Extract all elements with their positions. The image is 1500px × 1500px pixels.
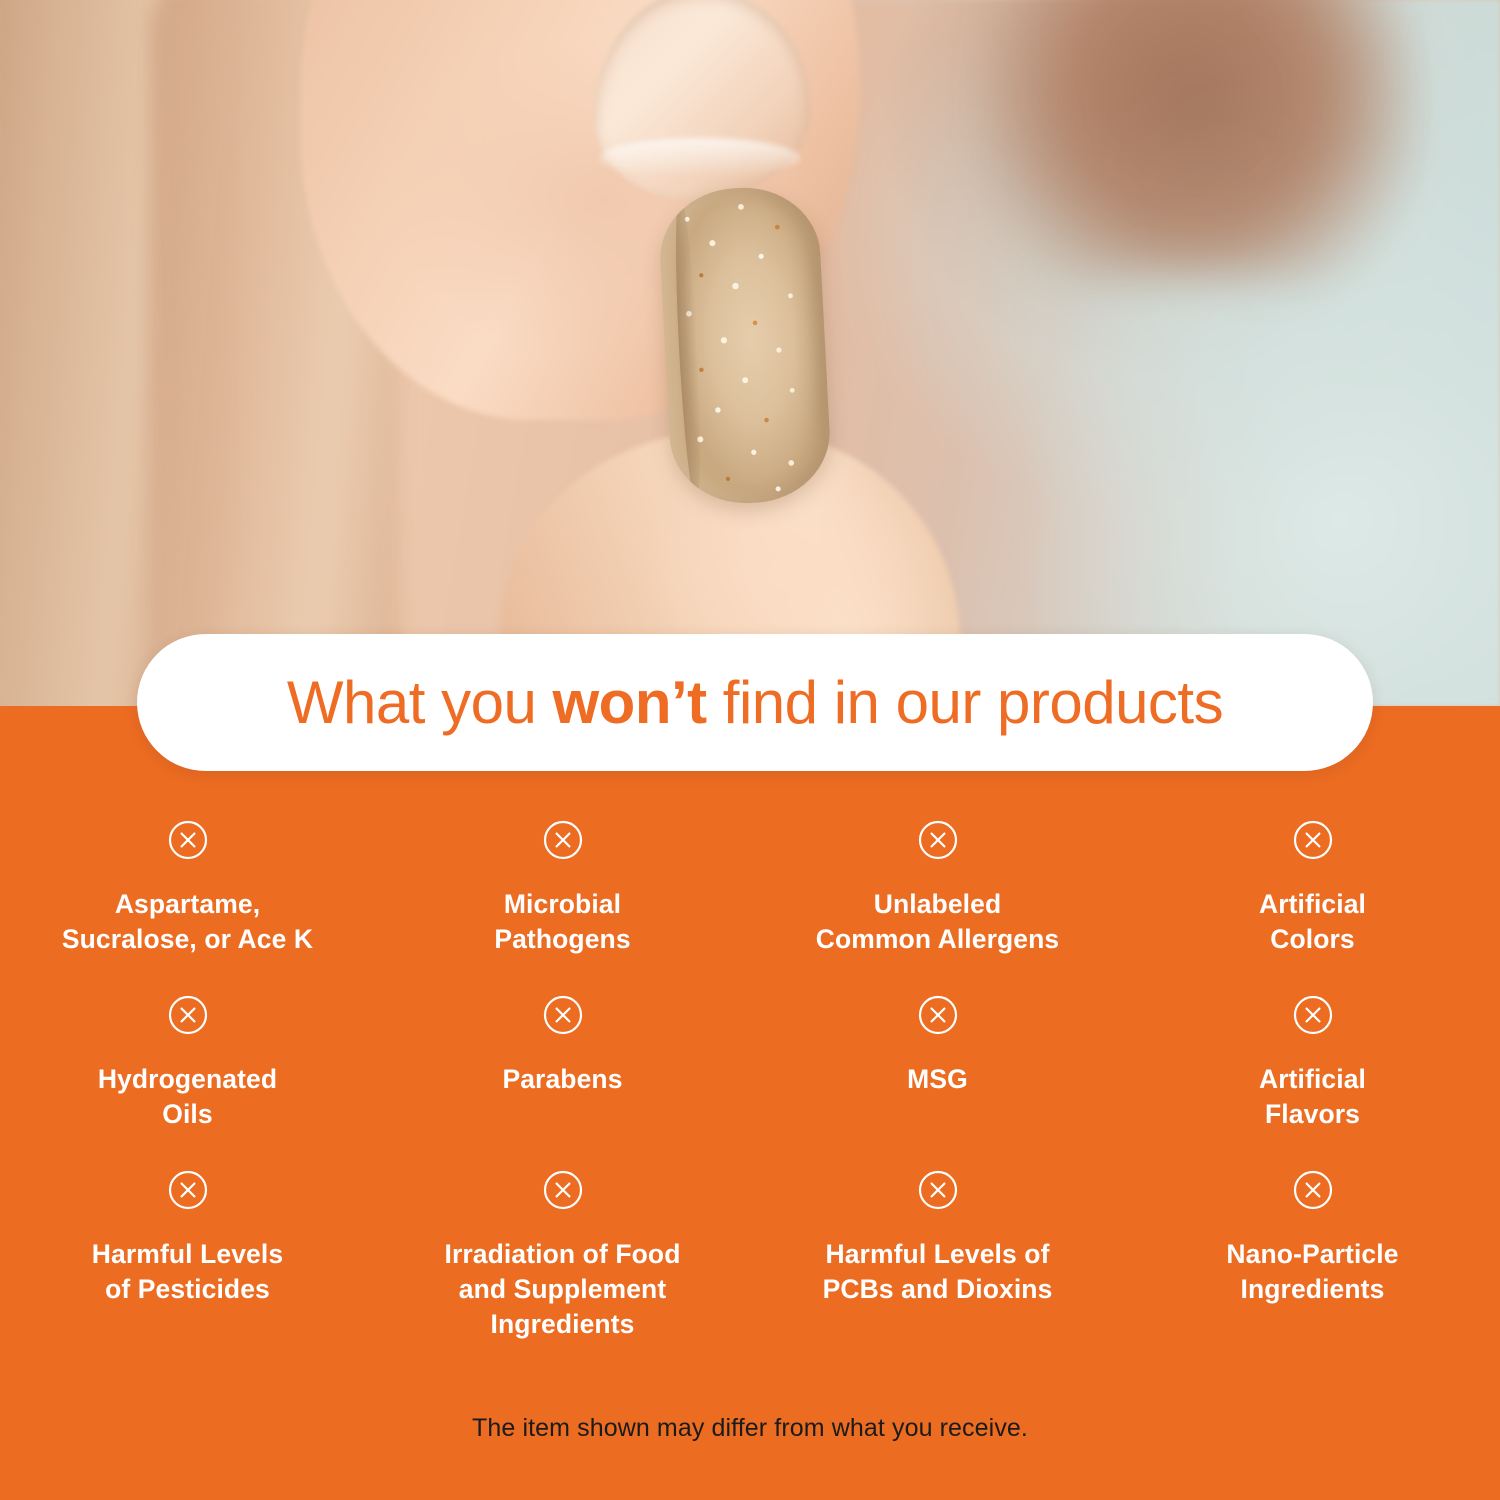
- circle-x-icon: [543, 995, 583, 1035]
- claim-item: MSG: [750, 995, 1125, 1170]
- circle-x-icon: [918, 995, 958, 1035]
- claim-label: Nano-Particle Ingredients: [1226, 1237, 1398, 1307]
- headline-card: What you won’t find in our products: [137, 634, 1373, 771]
- claims-row: Aspartame, Sucralose, or Ace K Microbial…: [0, 820, 1500, 995]
- claim-label-line: Ingredients: [1226, 1272, 1398, 1307]
- claim-label-line: Harmful Levels of: [823, 1237, 1053, 1272]
- claim-label: Artificial Flavors: [1259, 1062, 1366, 1132]
- claims-row: Hydrogenated Oils Parabens: [0, 995, 1500, 1170]
- photo-thumbnail-edge: [600, 138, 800, 178]
- claim-label-line: Nano-Particle: [1226, 1237, 1398, 1272]
- tablet-icon: [657, 184, 833, 507]
- headline-part-2: find in our products: [707, 669, 1223, 736]
- claim-item: Microbial Pathogens: [375, 820, 750, 995]
- claim-label: Artificial Colors: [1259, 887, 1366, 957]
- claims-grid: Aspartame, Sucralose, or Ace K Microbial…: [0, 820, 1500, 1360]
- claim-label-line: and Supplement: [445, 1272, 681, 1307]
- product-photo: [0, 0, 1500, 706]
- photo-blurred-backdrop: [980, 0, 1410, 280]
- claim-label-line: Harmful Levels: [92, 1237, 283, 1272]
- claim-item: Hydrogenated Oils: [0, 995, 375, 1170]
- circle-x-icon: [918, 1170, 958, 1210]
- circle-x-icon: [1293, 995, 1333, 1035]
- claim-item: Artificial Flavors: [1125, 995, 1500, 1170]
- claim-label-line: Colors: [1259, 922, 1366, 957]
- claim-label: MSG: [907, 1062, 968, 1097]
- claim-label-line: Pathogens: [494, 922, 630, 957]
- claim-item: Unlabeled Common Allergens: [750, 820, 1125, 995]
- claim-item: Aspartame, Sucralose, or Ace K: [0, 820, 375, 995]
- claim-item: Harmful Levels of Pesticides: [0, 1170, 375, 1360]
- circle-x-icon: [168, 1170, 208, 1210]
- claim-label-line: Parabens: [502, 1062, 622, 1097]
- disclaimer-text: The item shown may differ from what you …: [0, 1414, 1500, 1443]
- claim-label: Microbial Pathogens: [494, 887, 630, 957]
- claim-label-line: Microbial: [494, 887, 630, 922]
- claim-label-line: Artificial: [1259, 1062, 1366, 1097]
- claim-label: Irradiation of Food and Supplement Ingre…: [445, 1237, 681, 1343]
- claim-item: Nano-Particle Ingredients: [1125, 1170, 1500, 1360]
- claim-label-line: MSG: [907, 1062, 968, 1097]
- page-title: What you won’t find in our products: [287, 673, 1223, 733]
- claim-label: Hydrogenated Oils: [98, 1062, 277, 1132]
- circle-x-icon: [918, 820, 958, 860]
- claim-item: Artificial Colors: [1125, 820, 1500, 995]
- claim-label-line: Unlabeled: [816, 887, 1060, 922]
- product-claims-poster: What you won’t find in our products Aspa…: [0, 0, 1500, 1500]
- claim-label-line: PCBs and Dioxins: [823, 1272, 1053, 1307]
- claim-label-line: Sucralose, or Ace K: [62, 922, 313, 957]
- claim-label: Unlabeled Common Allergens: [816, 887, 1060, 957]
- circle-x-icon: [168, 820, 208, 860]
- circle-x-icon: [1293, 1170, 1333, 1210]
- claim-label: Parabens: [502, 1062, 622, 1097]
- claim-label-line: of Pesticides: [92, 1272, 283, 1307]
- claim-label-line: Oils: [98, 1097, 277, 1132]
- claim-label-line: Aspartame,: [62, 887, 313, 922]
- claims-row: Harmful Levels of Pesticides Irradiation…: [0, 1170, 1500, 1360]
- claim-label-line: Artificial: [1259, 887, 1366, 922]
- claim-label: Harmful Levels of PCBs and Dioxins: [823, 1237, 1053, 1307]
- circle-x-icon: [543, 1170, 583, 1210]
- headline-emphasis: won’t: [553, 669, 707, 736]
- claim-item: Harmful Levels of PCBs and Dioxins: [750, 1170, 1125, 1360]
- claim-label-line: Common Allergens: [816, 922, 1060, 957]
- circle-x-icon: [1293, 820, 1333, 860]
- claim-label-line: Irradiation of Food: [445, 1237, 681, 1272]
- claim-label-line: Ingredients: [445, 1307, 681, 1342]
- claim-label-line: Hydrogenated: [98, 1062, 277, 1097]
- claim-label-line: Flavors: [1259, 1097, 1366, 1132]
- circle-x-icon: [168, 995, 208, 1035]
- claim-item: Irradiation of Food and Supplement Ingre…: [375, 1170, 750, 1360]
- headline-part-1: What you: [287, 669, 553, 736]
- circle-x-icon: [543, 820, 583, 860]
- claim-label: Aspartame, Sucralose, or Ace K: [62, 887, 313, 957]
- claim-label: Harmful Levels of Pesticides: [92, 1237, 283, 1307]
- claim-item: Parabens: [375, 995, 750, 1170]
